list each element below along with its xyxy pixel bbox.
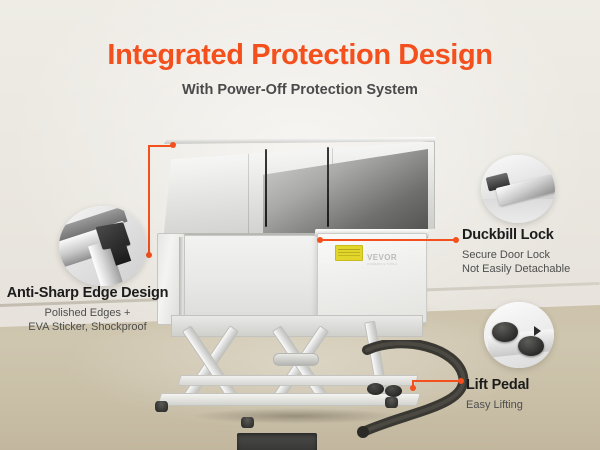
connector-dot-anti-sharp-edge bbox=[170, 142, 176, 148]
brand-tagline: POWERFUL TOOLS bbox=[367, 262, 405, 266]
lid-strap bbox=[327, 147, 329, 227]
lid-top-rail bbox=[161, 137, 435, 144]
callout-heading: Anti-Sharp Edge Design bbox=[0, 284, 175, 302]
callout-lift-pedal: Lift Pedal Easy Lifting bbox=[466, 376, 600, 412]
brand-name: VEVOR bbox=[367, 254, 405, 262]
marketing-banner: Integrated Protection Design With Power-… bbox=[0, 0, 600, 450]
callout-subtext-line-1: Secure Door Lock bbox=[462, 248, 600, 262]
leveling-foot bbox=[241, 417, 254, 428]
page-title: Integrated Protection Design bbox=[0, 38, 600, 72]
lift-top-carriage bbox=[171, 315, 423, 337]
callout-subtext-line-2: EVA Sticker, Shockproof bbox=[0, 320, 175, 334]
callout-duckbill-lock: Duckbill Lock Secure Door Lock Not Easil… bbox=[462, 226, 600, 276]
callout-subtext-line-1: Polished Edges + bbox=[0, 306, 175, 320]
connector-line-lift-pedal bbox=[412, 380, 462, 382]
hydraulic-cylinder bbox=[273, 353, 319, 366]
connector-dot-duckbill-lock bbox=[317, 237, 323, 243]
leveling-foot bbox=[155, 401, 168, 412]
callout-anti-sharp-edge: Anti-Sharp Edge Design Polished Edges + … bbox=[0, 284, 175, 334]
lift-pedal-icon bbox=[484, 302, 554, 368]
connector-dot-duckbill-lock bbox=[453, 237, 459, 243]
callout-subtext-line-1: Easy Lifting bbox=[466, 398, 600, 412]
connector-dot-lift-pedal bbox=[410, 385, 416, 391]
tub-front-door bbox=[317, 233, 427, 323]
callout-heading: Duckbill Lock bbox=[462, 226, 600, 244]
page-subtitle: With Power-Off Protection System bbox=[0, 82, 600, 98]
callout-heading: Lift Pedal bbox=[466, 376, 600, 394]
door-hinge bbox=[179, 237, 183, 319]
connector-line-anti-sharp-edge bbox=[148, 145, 150, 255]
callout-subtext-line-2: Not Easily Detachable bbox=[462, 262, 600, 276]
grooming-rack bbox=[237, 433, 317, 450]
warning-sticker bbox=[335, 245, 363, 261]
connector-line-duckbill-lock bbox=[320, 239, 458, 241]
anti-sharp-edge-icon bbox=[59, 206, 147, 286]
lid-strap bbox=[265, 149, 267, 227]
connector-dot-lift-pedal bbox=[458, 378, 464, 384]
brand-logo: VEVOR POWERFUL TOOLS bbox=[367, 253, 405, 266]
duckbill-lock-icon bbox=[481, 155, 555, 223]
